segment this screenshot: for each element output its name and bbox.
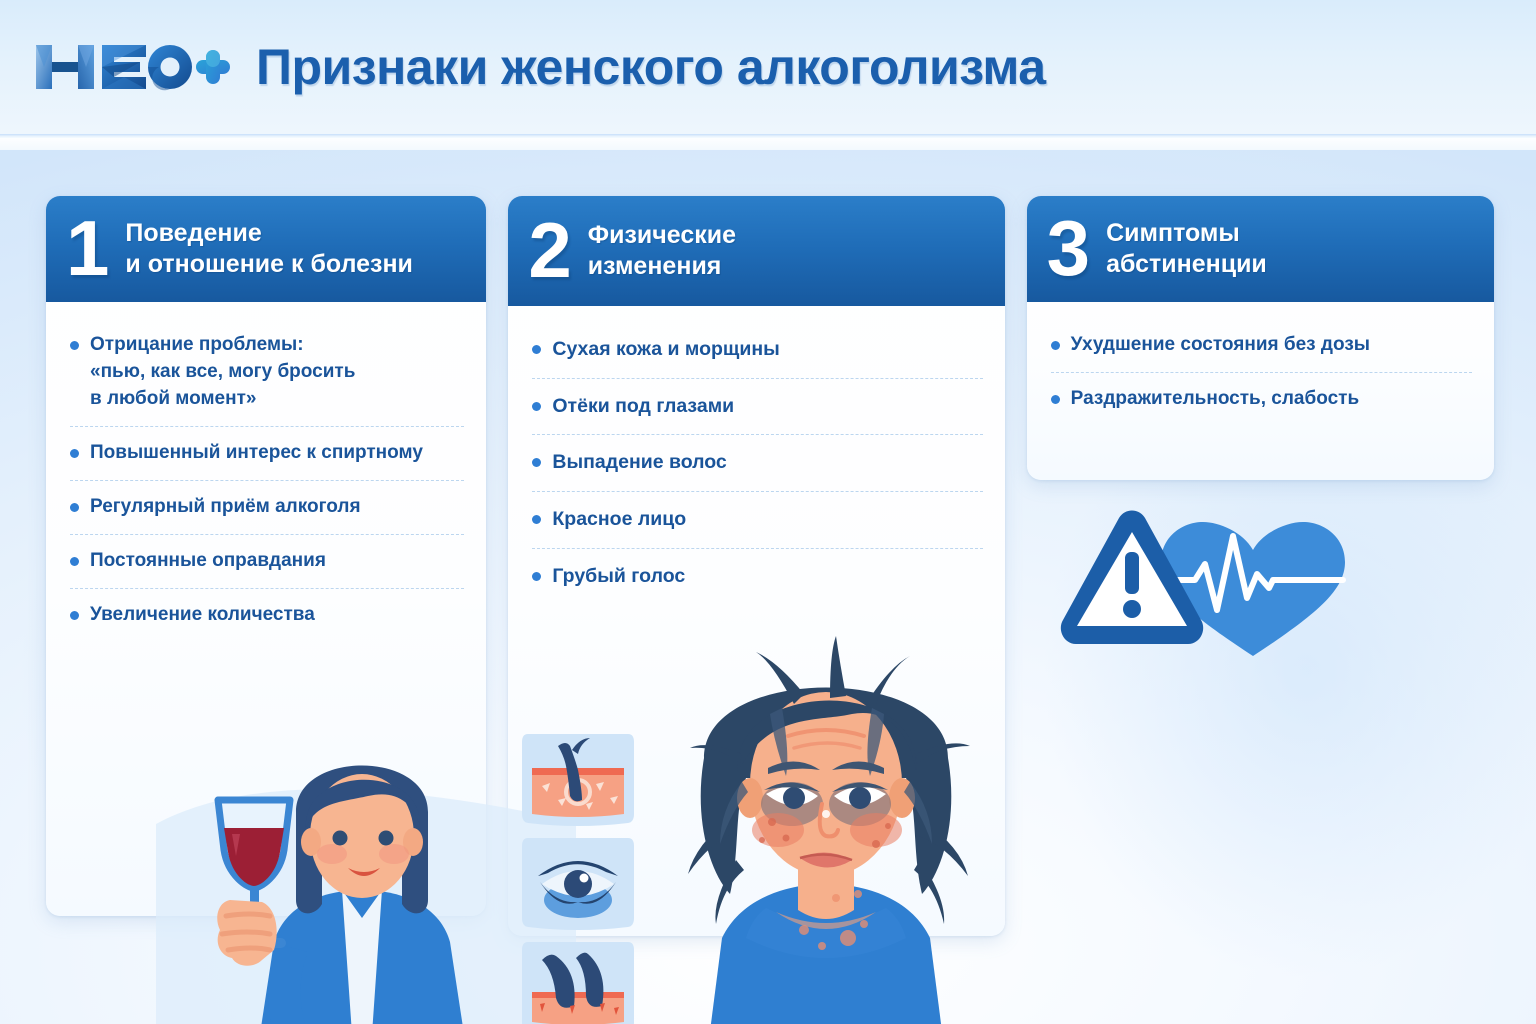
hair-follicle-icon bbox=[522, 942, 634, 1024]
list-item-label: Регулярный приём алкоголя bbox=[90, 494, 361, 521]
woman-with-wine-glass-illustration bbox=[156, 704, 576, 1024]
card-behavior-header: 1 Поведение и отношение к болезни bbox=[46, 196, 486, 302]
list-item-label: Ухудшение состояния без дозы bbox=[1071, 332, 1370, 359]
physical-symptom-icons bbox=[514, 728, 642, 1024]
behavior-list: Отрицание проблемы: «пью, как все, могу … bbox=[70, 332, 464, 642]
bullet-dot-icon bbox=[532, 572, 541, 581]
list-item[interactable]: Раздражительность, слабость bbox=[1051, 386, 1472, 426]
list-item-label: Выпадение волос bbox=[552, 449, 726, 477]
bullet-dot-icon bbox=[532, 458, 541, 467]
card-withdrawal-body: Ухудшение состояния без дозы Раздражител… bbox=[1027, 302, 1494, 426]
card-title: Физические изменения bbox=[588, 220, 736, 283]
bullet-dot-icon bbox=[1051, 341, 1060, 350]
card-withdrawal-header: 3 Симптомы абстиненции bbox=[1027, 196, 1494, 302]
infographic-page: Признаки женского алкоголизма 1 Поведени… bbox=[0, 0, 1536, 1024]
header-divider-soft bbox=[0, 138, 1536, 150]
list-item[interactable]: Отрицание проблемы: «пью, как все, могу … bbox=[70, 332, 464, 427]
cards-row: 1 Поведение и отношение к болезни Отрица… bbox=[46, 196, 1494, 936]
bullet-dot-icon bbox=[70, 557, 79, 566]
physical-list: Сухая кожа и морщины Отёки под глазами В… bbox=[532, 336, 982, 604]
card-title-line1: Физические bbox=[588, 221, 736, 249]
list-item[interactable]: Грубый голос bbox=[532, 563, 982, 605]
list-item-label: Отёки под глазами bbox=[552, 393, 734, 421]
card-physical-body: Сухая кожа и морщины Отёки под глазами В… bbox=[508, 306, 1004, 604]
page-title: Признаки женского алкоголизма bbox=[256, 38, 1046, 96]
bullet-dot-icon bbox=[70, 611, 79, 620]
card-behavior: 1 Поведение и отношение к болезни Отрица… bbox=[46, 196, 486, 916]
bullet-dot-icon bbox=[1051, 395, 1060, 404]
list-item[interactable]: Повышенный интерес к спиртному bbox=[70, 440, 464, 481]
card-title-line2: абстиненции bbox=[1106, 249, 1267, 281]
card-physical: 2 Физические изменения Сухая кожа и морщ… bbox=[508, 196, 1004, 936]
skin-pore-icon bbox=[522, 734, 634, 826]
list-item-quote-line1: «пью, как все, могу бросить bbox=[90, 359, 355, 386]
logo-letter-e bbox=[102, 45, 146, 89]
list-item-label: Раздражительность, слабость bbox=[1071, 386, 1359, 413]
eye-bags-icon bbox=[522, 838, 634, 930]
logo-letter-n bbox=[36, 45, 94, 89]
list-item[interactable]: Регулярный приём алкоголя bbox=[70, 494, 464, 535]
card-title: Симптомы абстиненции bbox=[1106, 218, 1267, 281]
card-physical-header: 2 Физические изменения bbox=[508, 196, 1004, 306]
bullet-dot-icon bbox=[532, 345, 541, 354]
logo-plus-icon bbox=[196, 50, 230, 84]
list-item-label: Повышенный интерес к спиртному bbox=[90, 440, 423, 467]
list-item[interactable]: Красное лицо bbox=[532, 506, 982, 549]
list-item[interactable]: Сухая кожа и морщины bbox=[532, 336, 982, 379]
card-title-line1: Симптомы bbox=[1106, 219, 1240, 247]
card-number: 3 bbox=[1047, 217, 1090, 281]
card-title: Поведение и отношение к болезни bbox=[125, 218, 413, 281]
card-behavior-body: Отрицание проблемы: «пью, как все, могу … bbox=[46, 302, 486, 642]
card-number: 2 bbox=[528, 219, 571, 283]
bullet-dot-icon bbox=[70, 341, 79, 350]
list-item-label: Увеличение количества bbox=[90, 602, 315, 629]
list-item-label: Красное лицо bbox=[552, 506, 686, 534]
list-item-label: Постоянные оправдания bbox=[90, 548, 326, 575]
tired-woman-illustration bbox=[626, 608, 1026, 1024]
list-item[interactable]: Постоянные оправдания bbox=[70, 548, 464, 589]
page-header: Признаки женского алкоголизма bbox=[0, 0, 1536, 134]
neo-plus-logo[interactable] bbox=[34, 37, 230, 97]
card-withdrawal: 3 Симптомы абстиненции Ухудшение состоян… bbox=[1027, 196, 1494, 480]
logo-letter-o bbox=[148, 45, 192, 90]
list-item[interactable]: Увеличение количества bbox=[70, 602, 464, 642]
bullet-dot-icon bbox=[532, 515, 541, 524]
list-item[interactable]: Ухудшение состояния без дозы bbox=[1051, 332, 1472, 373]
bullet-dot-icon bbox=[532, 402, 541, 411]
list-item-label: Грубый голос bbox=[552, 563, 685, 591]
card-title-line1: Поведение bbox=[125, 219, 261, 247]
card-number: 1 bbox=[66, 217, 109, 281]
list-item-quote-line2: в любой момент» bbox=[90, 386, 355, 413]
list-item-label: Отрицание проблемы: «пью, как все, могу … bbox=[90, 332, 355, 413]
list-item-label: Сухая кожа и морщины bbox=[552, 336, 779, 364]
bullet-dot-icon bbox=[70, 503, 79, 512]
card-title-line2: изменения bbox=[588, 251, 736, 283]
list-item[interactable]: Отёки под глазами bbox=[532, 393, 982, 436]
bullet-dot-icon bbox=[70, 449, 79, 458]
card-title-line2: и отношение к болезни bbox=[125, 249, 413, 281]
withdrawal-list: Ухудшение состояния без дозы Раздражител… bbox=[1051, 332, 1472, 426]
warning-heartbeat-illustration bbox=[1057, 506, 1347, 666]
list-item[interactable]: Выпадение волос bbox=[532, 449, 982, 492]
